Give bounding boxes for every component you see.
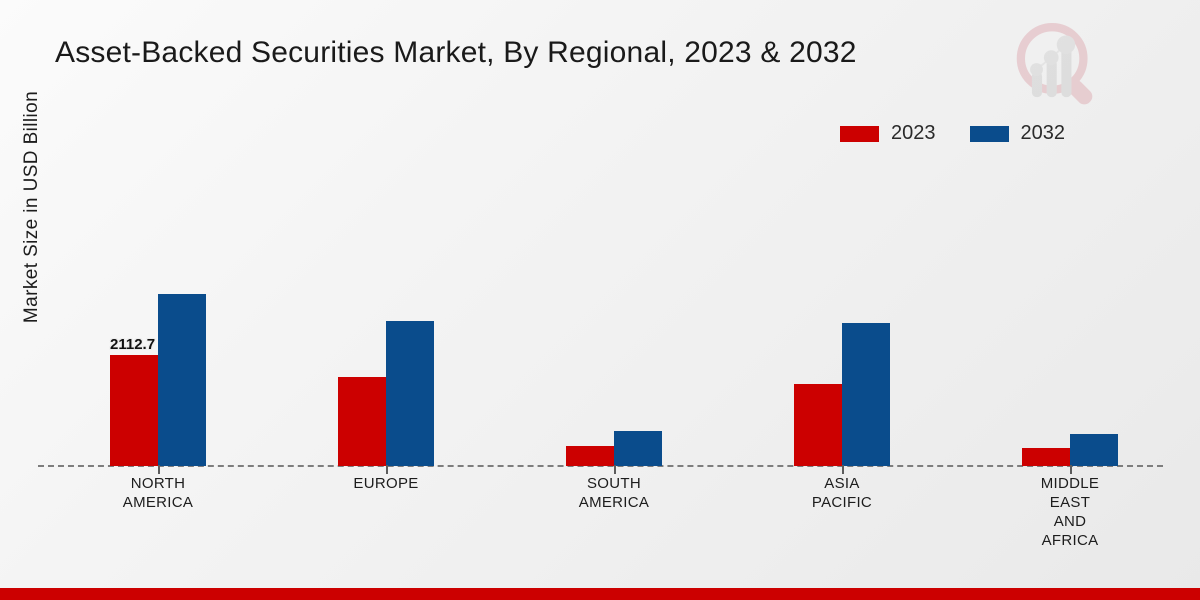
bar-asia-pacific-2032[interactable]	[842, 323, 890, 466]
x-axis-label-north-america: NORTHAMERICA	[58, 474, 258, 512]
axis-tick-south-america	[614, 465, 616, 474]
bar-north-america-2032[interactable]	[158, 294, 206, 466]
axis-tick-europe	[386, 465, 388, 474]
bar-asia-pacific-2023[interactable]	[794, 384, 842, 466]
x-axis-label-asia-pacific: ASIAPACIFIC	[742, 474, 942, 512]
axis-tick-middle-east-and-africa	[1070, 465, 1072, 474]
bar-europe-2032[interactable]	[386, 321, 434, 466]
bar-north-america-2023[interactable]	[110, 355, 158, 466]
x-axis-label-south-america: SOUTHAMERICA	[514, 474, 714, 512]
bar-label-north-america-2023: 2112.7	[110, 336, 155, 353]
bar-europe-2023[interactable]	[338, 377, 386, 466]
x-axis-label-middle-east-and-africa: MIDDLEEASTANDAFRICA	[970, 474, 1170, 550]
chart-plot-area: 2112.7 NORTHAMERICA EUROPE SOUT	[0, 0, 1200, 600]
bar-south-america-2032[interactable]	[614, 431, 662, 466]
axis-tick-asia-pacific	[842, 465, 844, 474]
bar-middle-east-and-africa-2023[interactable]	[1022, 448, 1070, 466]
bar-south-america-2023[interactable]	[566, 446, 614, 466]
bar-middle-east-and-africa-2032[interactable]	[1070, 434, 1118, 466]
x-axis-label-europe: EUROPE	[286, 474, 486, 493]
axis-tick-north-america	[158, 465, 160, 474]
footer-accent-strip	[0, 588, 1200, 600]
